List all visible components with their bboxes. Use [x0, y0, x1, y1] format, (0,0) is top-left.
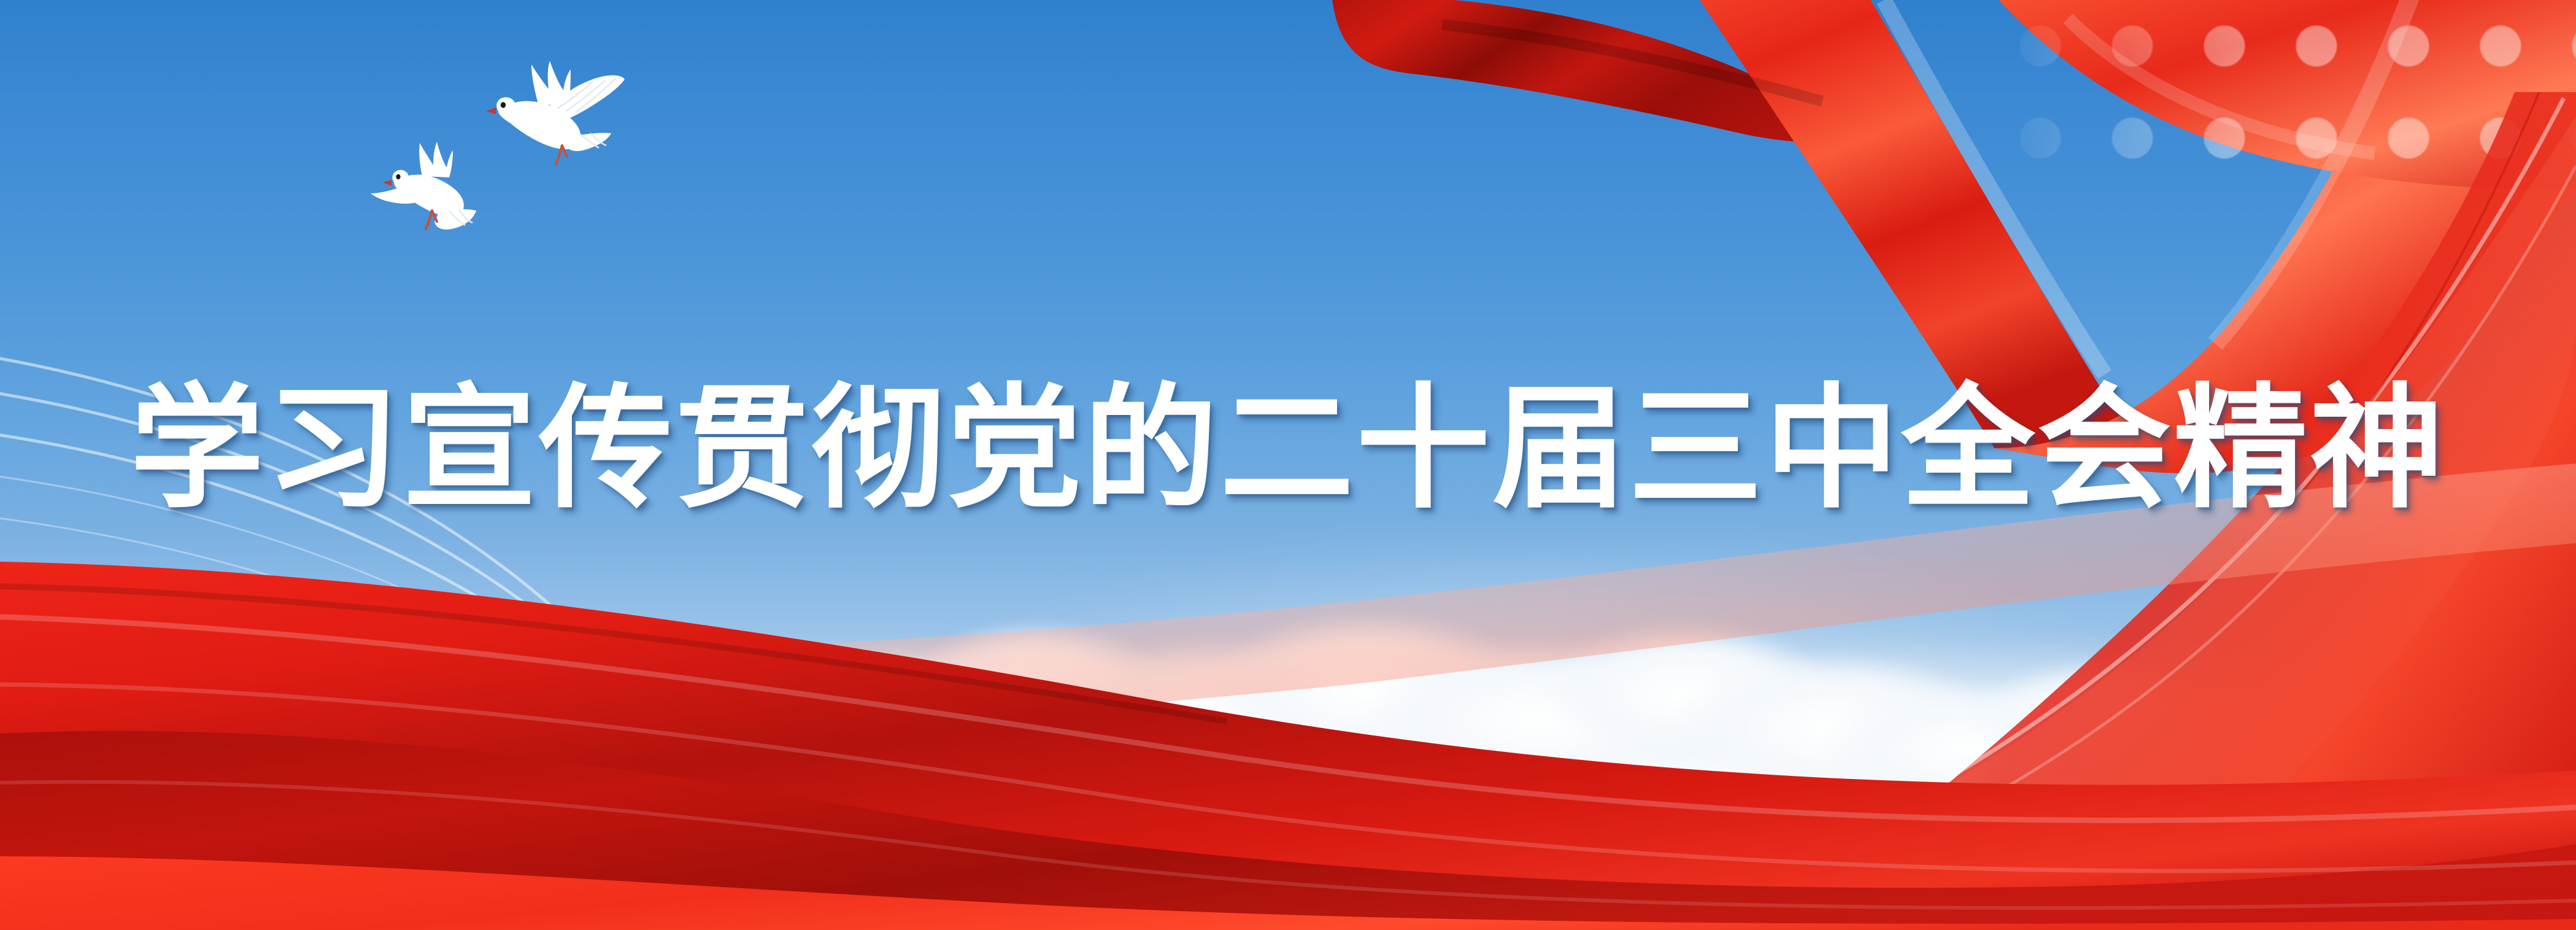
dove-beak — [486, 107, 496, 114]
dove-eye — [396, 174, 400, 179]
dove-tail — [434, 209, 476, 230]
dove-wing-upper — [419, 142, 453, 177]
dove-feet — [426, 211, 437, 229]
dove-eye — [501, 102, 506, 108]
dove-small-icon — [368, 132, 500, 233]
banner-root: 学习宣传贯彻党的二十届三中全会精神 — [0, 0, 2576, 930]
dove-small — [368, 132, 500, 233]
silk-svg — [0, 463, 2576, 930]
dove-beak — [383, 180, 391, 186]
red-silk-wave — [0, 463, 2576, 930]
